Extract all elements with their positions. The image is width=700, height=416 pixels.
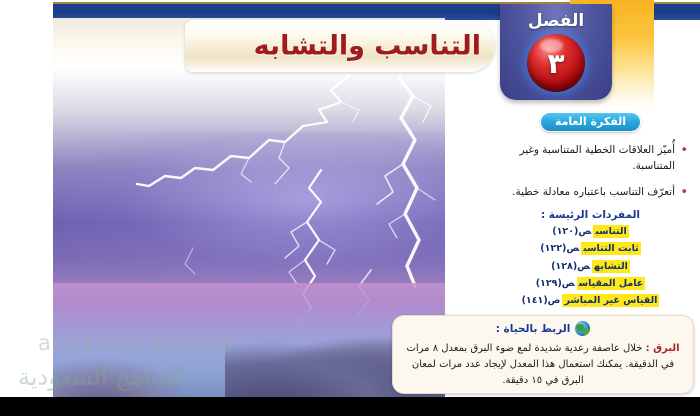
chapter-number-disc: ٣ — [527, 34, 585, 92]
sidebar: الفكرة العامة أُميّز العلاقات الخطية الم… — [483, 110, 698, 313]
page-bottom-bar — [0, 397, 700, 416]
list-item: عامل المقياسص(١٢٩) — [483, 278, 698, 289]
list-item: ثابت التناسبص(١٢٢) — [483, 243, 698, 254]
list-item: التناسبص(١٢٠) — [483, 226, 698, 237]
list-item: أتعرّف التناسب باعتباره معادلة خطية. — [489, 184, 688, 200]
rocks-left — [53, 359, 194, 397]
real-world-lead: البرق : — [646, 343, 680, 354]
real-world-box: الربط بالحياة : البرق : خلال عاصفة رعدية… — [392, 315, 694, 394]
vocabulary-term: القياس غير المباشر — [562, 294, 659, 307]
vocabulary-term: عامل المقياس — [577, 277, 646, 290]
lightning-photo — [53, 18, 445, 397]
list-item: التشابهص(١٢٨) — [483, 261, 698, 272]
vocabulary-term: التناسب — [593, 225, 628, 238]
real-world-text: خلال عاصفة رعدية شديدة لمع ضوء البرق بمع… — [406, 343, 674, 386]
big-idea-list: أُميّز العلاقات الخطية المتناسبة وغير ال… — [489, 142, 688, 200]
page-left-margin — [0, 0, 53, 397]
list-item: أُميّز العلاقات الخطية المتناسبة وغير ال… — [489, 142, 688, 175]
vocabulary-term: ثابت التناسب — [581, 242, 640, 255]
vocabulary-page: ص(١٢٩) — [536, 278, 577, 289]
vocabulary-list: التناسبص(١٢٠) ثابت التناسبص(١٢٢) التشابه… — [483, 226, 698, 307]
vocabulary-page: ص(١٤١) — [522, 295, 563, 306]
real-world-header: الربط بالحياة : — [393, 321, 693, 336]
real-world-heading: الربط بالحياة : — [496, 323, 571, 335]
vocabulary-page: ص(١٢٠) — [552, 226, 593, 237]
chapter-number: ٣ — [527, 34, 585, 92]
globe-icon — [575, 321, 590, 336]
big-idea-heading: الفكرة العامة — [540, 112, 641, 132]
list-item: القياس غير المباشرص(١٤١) — [483, 295, 698, 306]
vocabulary-page: ص(١٢٨) — [551, 261, 592, 272]
vocabulary-term: التشابه — [592, 260, 630, 273]
page-title: التناسب والتشابه — [254, 31, 481, 62]
chapter-title-banner: التناسب والتشابه — [185, 20, 495, 72]
real-world-body: البرق : خلال عاصفة رعدية شديدة لمع ضوء ا… — [406, 341, 680, 389]
chapter-badge: الفصل ٣ — [500, 4, 612, 100]
textbook-page: almanahj.com/sa المناهج السعودية التناسب… — [0, 0, 700, 416]
vocabulary-heading: المفردات الرئيسة : — [483, 209, 698, 221]
vocabulary-page: ص(١٢٢) — [540, 243, 581, 254]
chapter-label: الفصل — [500, 11, 612, 31]
